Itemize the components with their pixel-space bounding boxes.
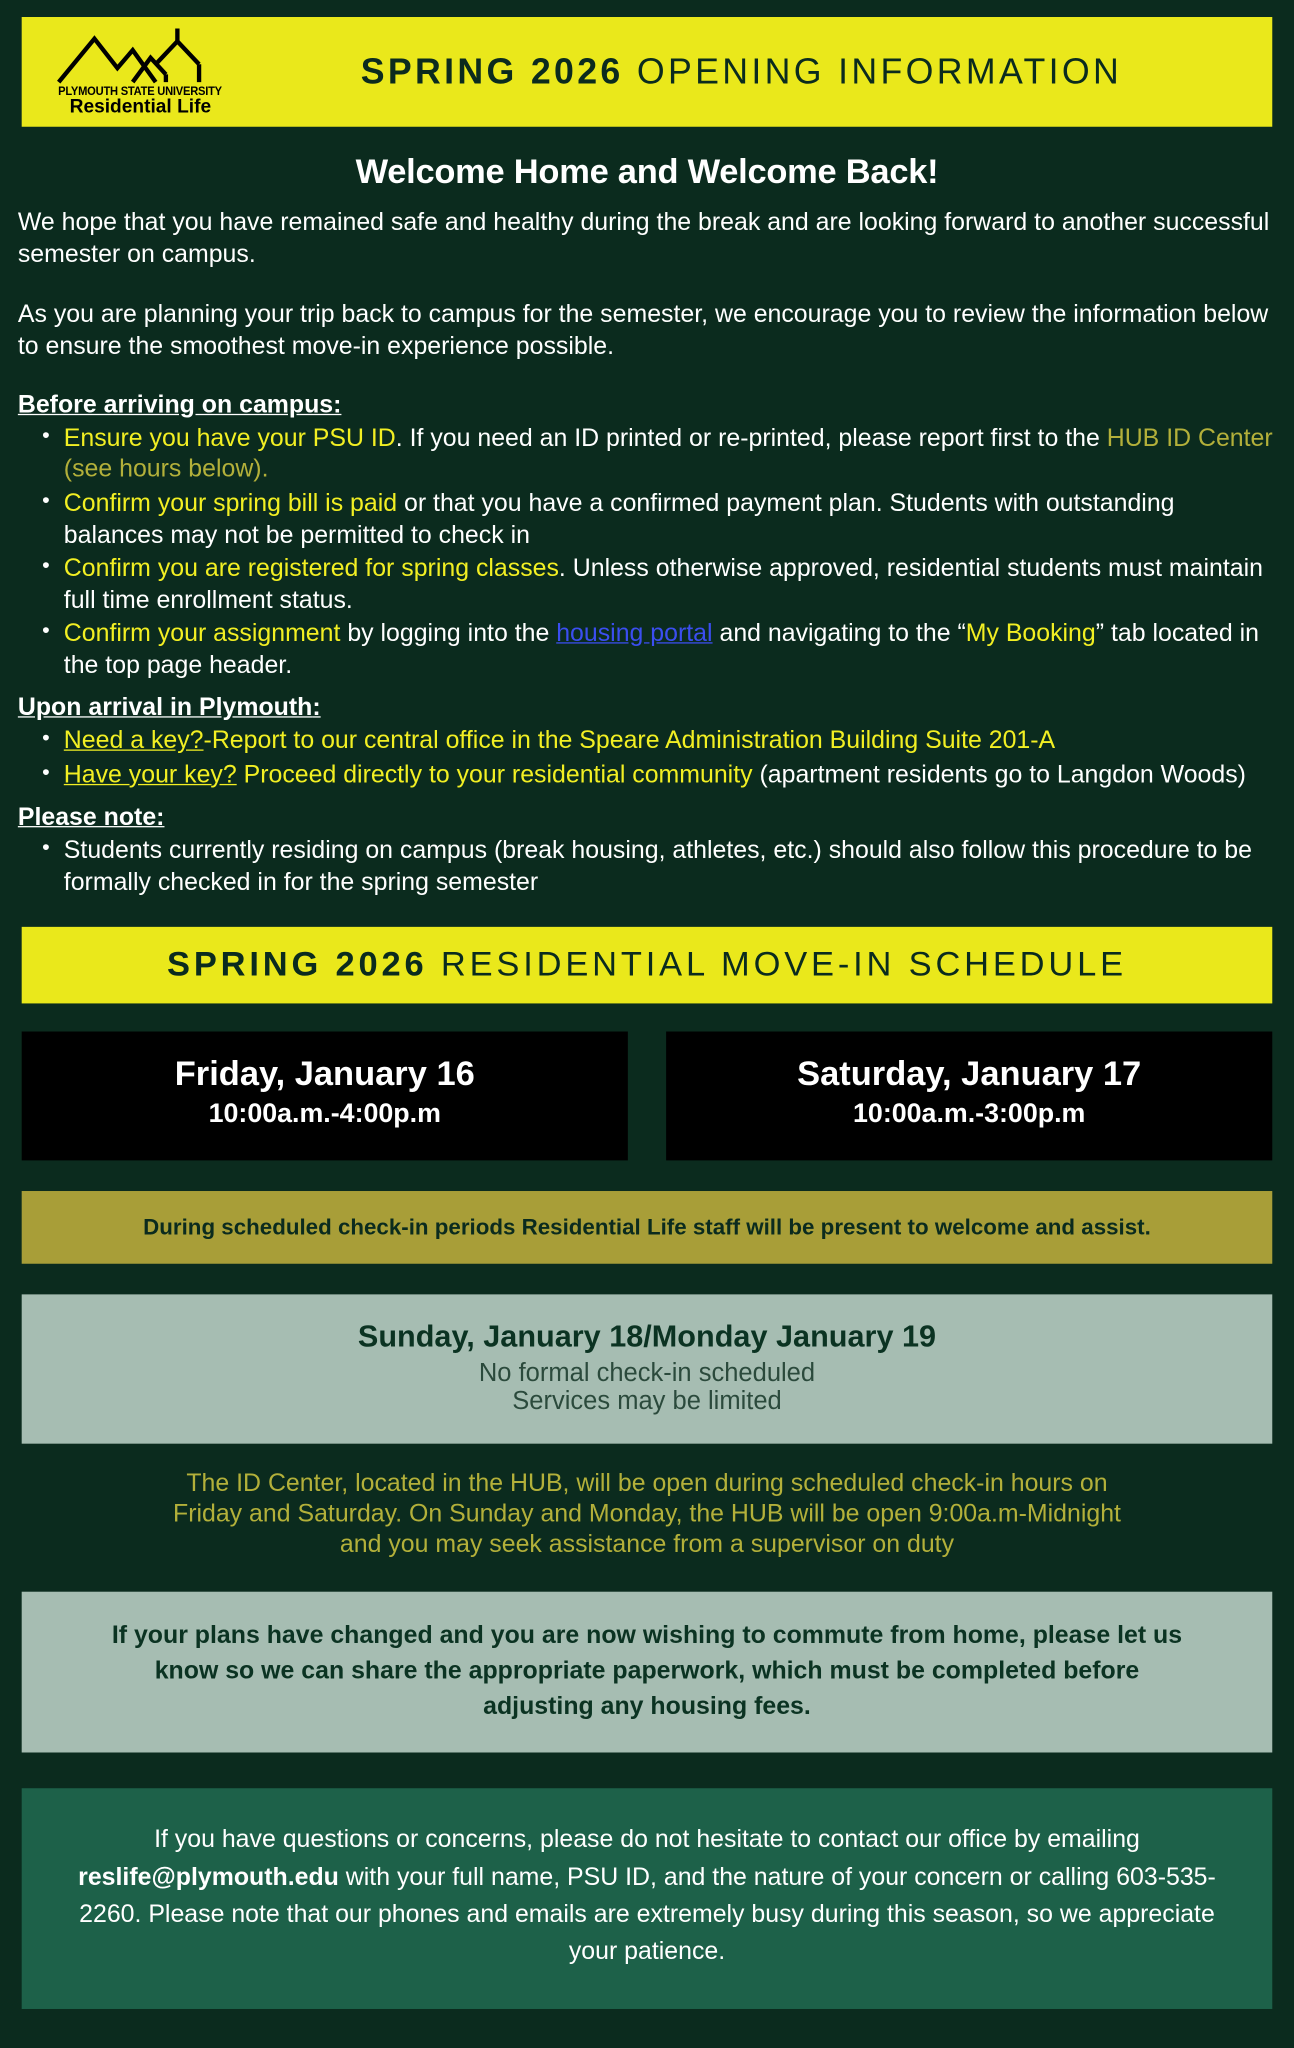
staff-present-note-text: During scheduled check-in periods Reside… bbox=[34, 1213, 1259, 1240]
poster-page: PLYMOUTH STATE UNIVERSITY Residential Li… bbox=[0, 17, 1294, 2017]
bullet-text: Students currently residing on campus (b… bbox=[64, 837, 1252, 896]
section-heading-colon: : bbox=[312, 694, 320, 722]
bullet-highlight: Confirm your assignment bbox=[64, 620, 341, 648]
commuter-panel-line-3: adjusting any housing fees. bbox=[40, 1689, 1255, 1725]
move-in-day-cards: Friday, January 16 10:00a.m.-4:00p.m Sat… bbox=[22, 1031, 1273, 1160]
section-heading-please-note: Please note: bbox=[18, 804, 1276, 833]
bullet-highlight: Proceed directly to your residential com… bbox=[237, 761, 753, 789]
move-in-card-saturday: Saturday, January 17 10:00a.m.-3:00p.m bbox=[666, 1031, 1272, 1160]
id-center-note-line-1: The ID Center, located in the HUB, will … bbox=[22, 1470, 1273, 1500]
bullet-text: (apartment residents go to Langdon Woods… bbox=[753, 761, 1246, 789]
commuter-panel-line-1: If your plans have changed and you are n… bbox=[40, 1617, 1255, 1653]
card-hours: 10:00a.m.-4:00p.m bbox=[22, 1099, 628, 1130]
bullet-text: . If you need an ID printed or re-printe… bbox=[396, 424, 1107, 452]
intro-paragraph-2: As you are planning your trip back to ca… bbox=[18, 299, 1276, 363]
card-hours: 10:00a.m.-3:00p.m bbox=[666, 1099, 1272, 1130]
card-date: Friday, January 16 bbox=[22, 1054, 628, 1094]
schedule-title-rest: RESIDENTIAL MOVE-IN SCHEDULE bbox=[427, 945, 1126, 983]
id-center-note-line-3: and you may seek assistance from a super… bbox=[22, 1530, 1273, 1560]
weekend-panel-title: Sunday, January 18/Monday January 19 bbox=[40, 1319, 1255, 1355]
weekend-panel-line-1: No formal check-in scheduled bbox=[40, 1359, 1255, 1388]
mountains-house-icon bbox=[56, 26, 224, 85]
contact-footer-text: If you have questions or concerns, pleas… bbox=[55, 1822, 1239, 1971]
bullet-highlight: Ensure you have your PSU ID bbox=[64, 424, 396, 452]
my-booking-tab-name: My Booking bbox=[966, 620, 1096, 648]
weekend-panel-line-2: Services may be limited bbox=[40, 1387, 1255, 1416]
commuter-panel-line-2: know so we can share the appropriate pap… bbox=[40, 1653, 1255, 1689]
move-in-schedule-banner: SPRING 2026 RESIDENTIAL MOVE-IN SCHEDULE bbox=[22, 926, 1273, 1003]
card-date: Saturday, January 17 bbox=[666, 1054, 1272, 1094]
bullet-highlight: Confirm your spring bill is paid bbox=[64, 489, 397, 517]
before-arriving-list: Ensure you have your PSU ID. If you need… bbox=[18, 423, 1276, 681]
housing-portal-link[interactable]: housing portal bbox=[556, 620, 712, 648]
contact-email: reslife@plymouth.edu bbox=[78, 1863, 339, 1891]
header-banner: PLYMOUTH STATE UNIVERSITY Residential Li… bbox=[22, 17, 1273, 127]
list-item: Confirm you are registered for spring cl… bbox=[64, 553, 1276, 616]
bullet-highlight: Confirm you are registered for spring cl… bbox=[64, 554, 559, 582]
intro-paragraph-1: We hope that you have remained safe and … bbox=[18, 207, 1276, 271]
welcome-heading: Welcome Home and Welcome Back! bbox=[18, 152, 1276, 192]
list-item: Need a key?-Report to our central office… bbox=[64, 726, 1276, 757]
logo-department-name: Residential Life bbox=[70, 98, 211, 118]
move-in-card-friday: Friday, January 16 10:00a.m.-4:00p.m bbox=[22, 1031, 628, 1160]
page-title-term: SPRING 2026 bbox=[361, 51, 624, 91]
section-heading-before-arriving: Before arriving on campus: bbox=[18, 391, 1276, 420]
logo-university-name: PLYMOUTH STATE UNIVERSITY bbox=[59, 86, 223, 98]
list-item: Students currently residing on campus (b… bbox=[64, 836, 1276, 899]
list-item: Confirm your spring bill is paid or that… bbox=[64, 488, 1276, 551]
have-your-key-label: Have your key? bbox=[64, 761, 237, 789]
bullet-text: -Report to our central office in the Spe… bbox=[204, 727, 1056, 755]
please-note-list: Students currently residing on campus (b… bbox=[18, 836, 1276, 899]
weekend-no-checkin-panel: Sunday, January 18/Monday January 19 No … bbox=[22, 1294, 1273, 1444]
move-in-schedule-title: SPRING 2026 RESIDENTIAL MOVE-IN SCHEDULE bbox=[167, 945, 1127, 985]
list-item: Ensure you have your PSU ID. If you need… bbox=[64, 423, 1276, 486]
section-heading-text: Upon arrival in Plymouth bbox=[18, 694, 313, 722]
contact-footer: If you have questions or concerns, pleas… bbox=[22, 1789, 1273, 2010]
bullet-text: and navigating to the “ bbox=[713, 620, 966, 648]
commuter-change-panel: If your plans have changed and you are n… bbox=[22, 1591, 1273, 1753]
body-content: Welcome Home and Welcome Back! We hope t… bbox=[0, 152, 1294, 898]
id-center-hours-note: The ID Center, located in the HUB, will … bbox=[22, 1470, 1273, 1561]
list-item: Confirm your assignment by logging into … bbox=[64, 618, 1276, 681]
list-item: Have your key? Proceed directly to your … bbox=[64, 760, 1276, 791]
need-a-key-label: Need a key? bbox=[64, 727, 204, 755]
page-title-rest: OPENING INFORMATION bbox=[624, 51, 1122, 91]
page-title: SPRING 2026 OPENING INFORMATION bbox=[236, 51, 1272, 92]
staff-present-note: During scheduled check-in periods Reside… bbox=[22, 1190, 1273, 1263]
schedule-title-term: SPRING 2026 bbox=[167, 945, 427, 983]
section-heading-upon-arrival: Upon arrival in Plymouth: bbox=[18, 694, 1276, 723]
contact-text-before: If you have questions or concerns, pleas… bbox=[154, 1826, 1140, 1854]
id-center-note-line-2: Friday and Saturday. On Sunday and Monda… bbox=[22, 1500, 1273, 1530]
psu-residential-life-logo: PLYMOUTH STATE UNIVERSITY Residential Li… bbox=[22, 26, 236, 118]
bullet-text: by logging into the bbox=[340, 620, 556, 648]
upon-arrival-list: Need a key?-Report to our central office… bbox=[18, 726, 1276, 791]
poster-canvas: PLYMOUTH STATE UNIVERSITY Residential Li… bbox=[0, 17, 1294, 2048]
